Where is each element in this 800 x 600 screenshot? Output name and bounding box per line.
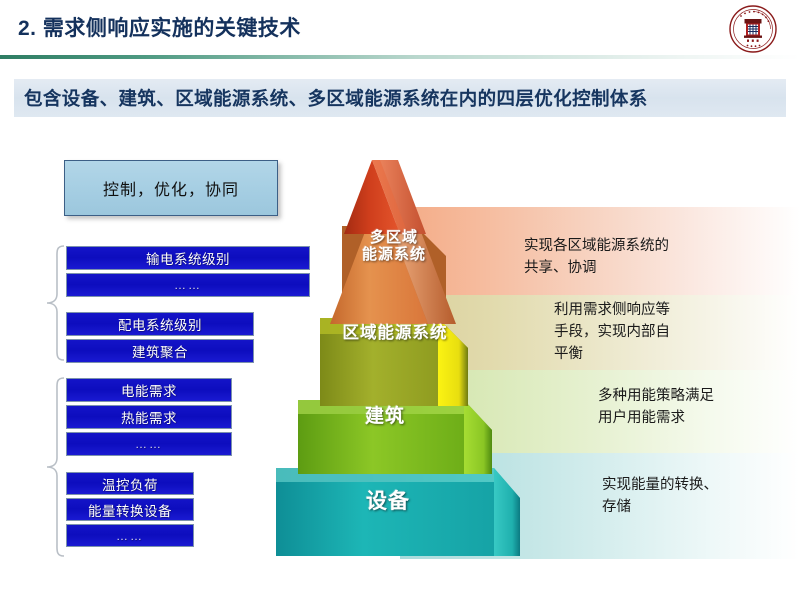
slide-canvas: 2. 需求侧响应实施的关键技术 <box>0 0 800 600</box>
pyramid-diagram: 多区域 能源系统 区域能源系统 建筑 设备 <box>268 152 588 564</box>
annotation-building: 多种用能策略满足 用户用能需求 <box>598 386 714 430</box>
university-seal-logo <box>728 4 778 54</box>
subtitle-text: 包含设备、建筑、区域能源系统、多区域能源系统在内的四层优化控制体系 <box>14 85 648 111</box>
level-box[interactable]: 配电系统级别 <box>66 312 254 336</box>
level-box[interactable]: 输电系统级别 <box>66 246 310 270</box>
annotation-equipment: 实现能量的转换、 存储 <box>602 475 718 519</box>
level-box[interactable]: …… <box>66 524 194 547</box>
level-group-distribution: 配电系统级别 建筑聚合 <box>66 312 254 366</box>
annotation-multi-region: 实现各区域能源系统的 共享、协调 <box>524 236 669 280</box>
level-box[interactable]: 温控负荷 <box>66 472 194 495</box>
level-box[interactable]: …… <box>66 432 232 456</box>
level-box[interactable]: 电能需求 <box>66 378 232 402</box>
subtitle-banner: 包含设备、建筑、区域能源系统、多区域能源系统在内的四层优化控制体系 <box>14 79 786 117</box>
level-box[interactable]: 热能需求 <box>66 405 232 429</box>
annotation-region: 利用需求侧响应等 手段，实现内部自 平衡 <box>554 300 670 365</box>
level-box[interactable]: …… <box>66 273 310 297</box>
level-group-demand: 电能需求 热能需求 …… <box>66 378 232 459</box>
control-optimize-coordinate-box: 控制，优化，协同 <box>64 160 278 216</box>
title-divider-rule <box>0 55 800 59</box>
bracket-upper-levels <box>44 244 66 362</box>
page-title: 2. 需求侧响应实施的关键技术 <box>18 12 301 42</box>
level-box[interactable]: 能量转换设备 <box>66 498 194 521</box>
control-box-label: 控制，优化，协同 <box>103 176 239 200</box>
bracket-lower-levels <box>44 376 66 558</box>
level-box[interactable]: 建筑聚合 <box>66 339 254 363</box>
level-group-device: 温控负荷 能量转换设备 …… <box>66 472 194 550</box>
level-group-transmission: 输电系统级别 …… <box>66 246 310 300</box>
